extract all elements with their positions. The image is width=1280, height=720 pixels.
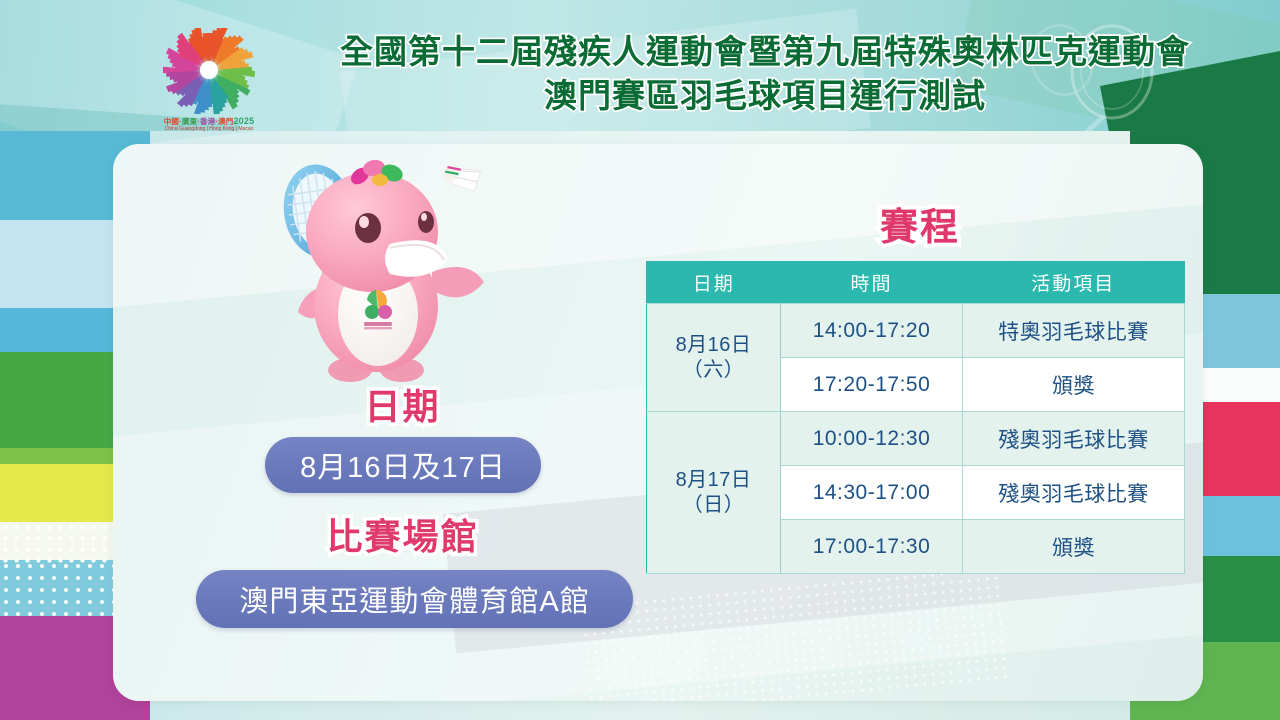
schedule-time-cell: 17:20-17:50	[781, 358, 963, 412]
schedule-event-cell: 頒獎	[963, 520, 1185, 574]
schedule-time-cell: 14:30-17:00	[781, 466, 963, 520]
emblem-wordmark-cn: 中國·廣東·香港·澳門2025	[163, 117, 255, 126]
header-banner: 中國·廣東·香港·澳門2025 China Guangdong | Hong K…	[0, 0, 1280, 131]
schedule-row: 8月16日（六）14:00-17:20特奧羽毛球比賽	[647, 304, 1185, 358]
date-label: 日期	[230, 378, 575, 430]
column-header-time: 時間	[781, 262, 963, 304]
schedule-title: 賽程	[790, 196, 1050, 251]
header-title-line-1: 全國第十二屆殘疾人運動會暨第九屆特殊奧林匹克運動會	[265, 30, 1265, 74]
mascot-eye-left	[355, 213, 381, 243]
column-header-event: 活動項目	[963, 262, 1185, 304]
header-title-line-2: 澳門賽區羽毛球項目運行測試	[265, 74, 1265, 118]
shuttlecock-icon	[440, 155, 484, 196]
games-emblem-logo: 中國·廣東·香港·澳門2025 China Guangdong | Hong K…	[163, 28, 255, 131]
schedule-table: 日期 時間 活動項目 8月16日（六）14:00-17:20特奧羽毛球比賽17:…	[646, 261, 1185, 574]
schedule-event-cell: 殘奧羽毛球比賽	[963, 466, 1185, 520]
emblem-wordmark: 中國·廣東·香港·澳門2025 China Guangdong | Hong K…	[163, 117, 255, 132]
schedule-event-cell: 殘奧羽毛球比賽	[963, 412, 1185, 466]
schedule-time-cell: 10:00-12:30	[781, 412, 963, 466]
venue-value-pill[interactable]: 澳門東亞運動會體育館A館	[196, 570, 633, 628]
schedule-event-cell: 頒獎	[963, 358, 1185, 412]
date-value-pill[interactable]: 8月16日及17日	[265, 437, 541, 493]
schedule-time-cell: 14:00-17:20	[781, 304, 963, 358]
pink-dolphin-mascot	[252, 150, 552, 390]
schedule-row: 8月17日（日）10:00-12:30殘奧羽毛球比賽	[647, 412, 1185, 466]
poster-canvas: 中國·廣東·香港·澳門2025 China Guangdong | Hong K…	[0, 0, 1280, 720]
mascot-body	[298, 158, 484, 382]
schedule-event-cell: 特奧羽毛球比賽	[963, 304, 1185, 358]
schedule-date-cell: 8月16日（六）	[647, 304, 781, 412]
emblem-burst-icon	[163, 28, 255, 114]
mascot-illustration	[252, 150, 552, 390]
venue-label: 比賽場館	[230, 508, 575, 560]
schedule-date-cell: 8月17日（日）	[647, 412, 781, 574]
column-header-date: 日期	[647, 262, 781, 304]
emblem-wordmark-en: China Guangdong | Hong Kong | Macao	[163, 127, 255, 131]
schedule-header-row: 日期 時間 活動項目	[647, 262, 1185, 304]
schedule-time-cell: 17:00-17:30	[781, 520, 963, 574]
header-title: 全國第十二屆殘疾人運動會暨第九屆特殊奧林匹克運動會 澳門賽區羽毛球項目運行測試	[265, 30, 1265, 118]
